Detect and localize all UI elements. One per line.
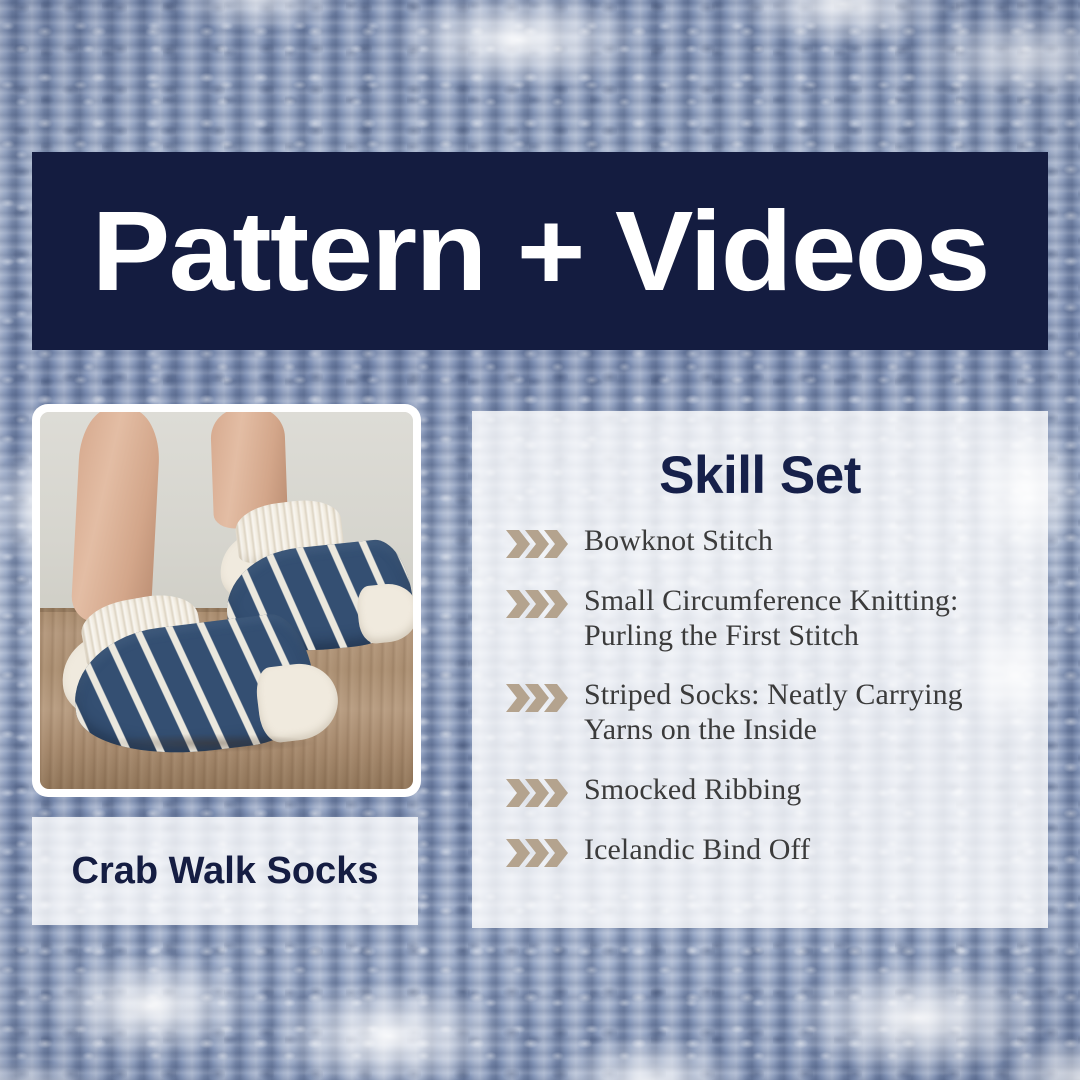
- skill-set-list: Bowknot Stitch Small Circumference Knitt…: [498, 524, 1022, 868]
- list-item: Smocked Ribbing: [506, 773, 1018, 808]
- product-name-label: Crab Walk Socks: [72, 850, 379, 893]
- title-banner: Pattern + Videos: [32, 152, 1048, 350]
- triple-chevron-right-icon: [506, 779, 568, 807]
- skill-item-label: Small Circumference Knitting: Purling th…: [584, 584, 1018, 654]
- skill-item-label: Striped Socks: Neatly Carrying Yarns on …: [584, 678, 1018, 748]
- skill-set-panel: Skill Set Bowknot Stitch: [472, 411, 1048, 928]
- skill-item-label: Bowknot Stitch: [584, 524, 773, 559]
- triple-chevron-right-icon: [506, 839, 568, 867]
- photo-sock-back-toe: [355, 581, 413, 645]
- product-photo: [40, 412, 413, 789]
- list-item: Striped Socks: Neatly Carrying Yarns on …: [506, 678, 1018, 748]
- triple-chevron-right-icon: [506, 684, 568, 712]
- page-title: Pattern + Videos: [91, 195, 988, 308]
- list-item: Bowknot Stitch: [506, 524, 1018, 559]
- list-item: Icelandic Bind Off: [506, 833, 1018, 868]
- skill-item-label: Smocked Ribbing: [584, 773, 801, 808]
- skill-item-label: Icelandic Bind Off: [584, 833, 810, 868]
- skill-set-heading: Skill Set: [498, 449, 1022, 502]
- triple-chevron-right-icon: [506, 530, 568, 558]
- photo-leg-front: [70, 412, 161, 625]
- poster-canvas: Pattern + Videos: [0, 0, 1080, 1080]
- product-name-box: Crab Walk Socks: [32, 817, 418, 925]
- photo-sock-shadow: [58, 730, 358, 756]
- triple-chevron-right-icon: [506, 590, 568, 618]
- product-photo-card: [32, 404, 421, 797]
- list-item: Small Circumference Knitting: Purling th…: [506, 584, 1018, 654]
